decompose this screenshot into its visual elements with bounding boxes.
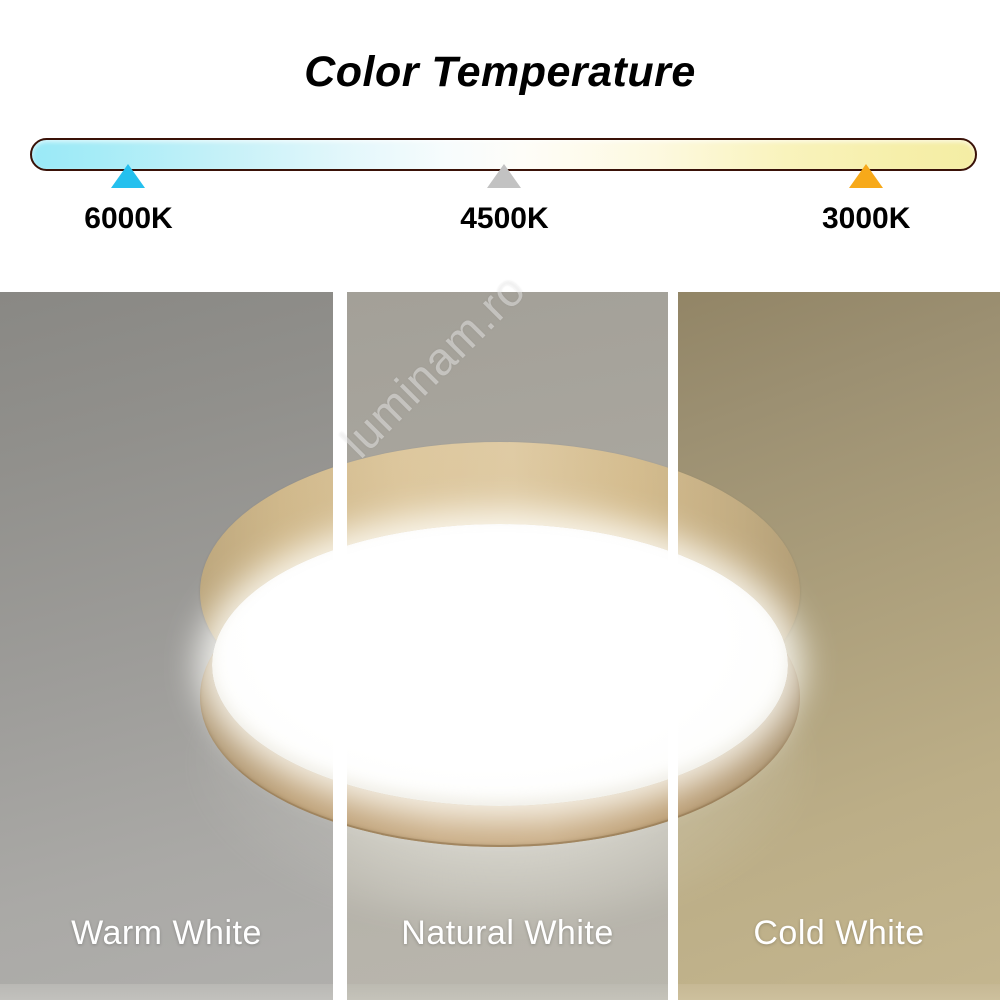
panel-label-warm-white: Warm White — [0, 914, 333, 953]
floor-band — [347, 984, 668, 1000]
panel-cold-white[interactable]: Cold White — [678, 292, 1000, 1000]
panel-warm-white[interactable]: Warm White — [0, 292, 333, 1000]
triangle-marker-icon — [849, 164, 883, 188]
panel-label-cold-white: Cold White — [678, 914, 1000, 953]
marker-label-6000k: 6000K — [84, 202, 172, 236]
panel-background — [347, 292, 668, 1000]
panel-background — [0, 292, 333, 1000]
panel-label-natural-white: Natural White — [347, 914, 668, 953]
page-title: Color Temperature — [0, 48, 1000, 97]
triangle-marker-icon — [111, 164, 145, 188]
panel-natural-white[interactable]: Natural White — [347, 292, 668, 1000]
marker-label-3000k: 3000K — [822, 202, 910, 236]
comparison-scene: Warm White Natural White Cold Whit — [0, 292, 1000, 1000]
floor-band — [678, 984, 1000, 1000]
color-temperature-scale: 6000K 4500K 3000K — [30, 138, 977, 171]
panel-background — [678, 292, 1000, 1000]
marker-label-4500k: 4500K — [460, 202, 548, 236]
triangle-marker-icon — [487, 164, 521, 188]
header-section: Color Temperature 6000K 4500K 3000K — [0, 0, 1000, 292]
floor-band — [0, 984, 333, 1000]
